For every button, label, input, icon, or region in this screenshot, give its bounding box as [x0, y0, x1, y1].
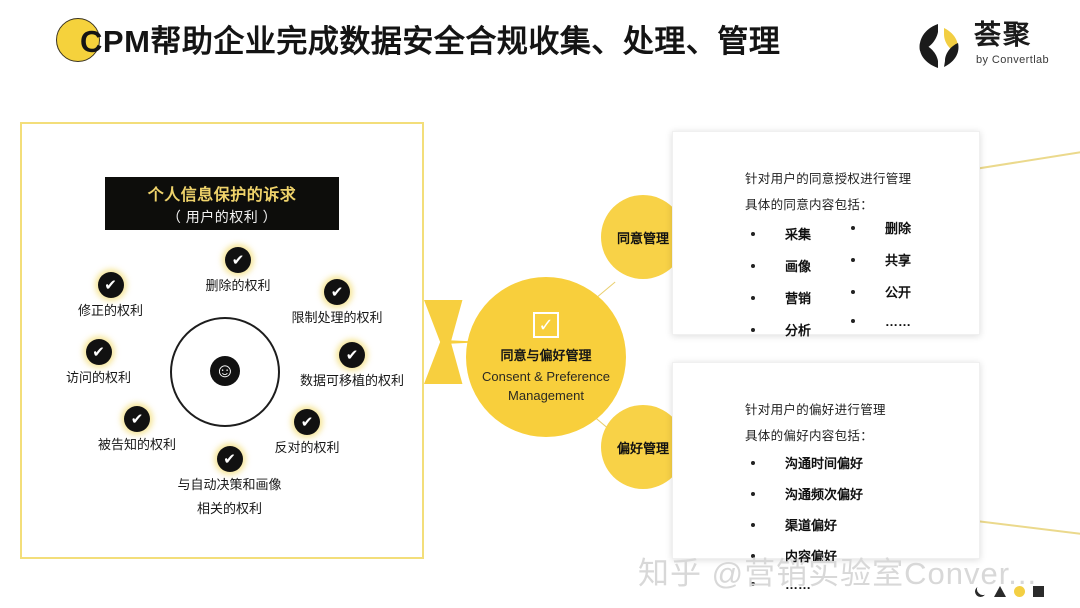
list-item-label: 采集	[785, 224, 811, 243]
logo-name-cn: 荟聚	[974, 20, 1032, 50]
card-line-2: 具体的偏好内容包括：	[745, 425, 873, 444]
preference-detail-card: 针对用户的偏好进行管理 具体的偏好内容包括： 沟通时间偏好 沟通频次偏好 渠道偏…	[672, 362, 980, 559]
bullet-dot-icon	[751, 328, 755, 332]
card-line-2: 具体的同意内容包括：	[745, 194, 873, 213]
list-item-label: 共享	[885, 250, 911, 269]
list-item: 渠道偏好	[751, 515, 863, 534]
list-item-label: 营销	[785, 288, 811, 307]
bullet-dot-icon	[751, 296, 755, 300]
check-circle-icon: ✔	[339, 342, 365, 368]
list-item: 画像	[751, 256, 811, 275]
bullet-dot-icon	[751, 523, 755, 527]
logo-leaf-icon	[914, 20, 966, 72]
bullet-dot-icon	[851, 290, 855, 294]
list-item: 删除	[851, 218, 911, 237]
list-item: 分析	[751, 320, 811, 339]
list-item: ……	[851, 314, 911, 329]
list-item: 共享	[851, 250, 911, 269]
list-item: 沟通频次偏好	[751, 484, 863, 503]
right-label: 与自动决策和画像	[157, 476, 302, 494]
slide-canvas: CPM帮助企业完成数据安全合规收集、处理、管理 荟聚 by Convertlab…	[0, 0, 1080, 608]
right-item-rectification: ✔ 修正的权利	[58, 272, 163, 320]
watermark-icon-group	[975, 586, 1044, 597]
crescent-icon	[975, 586, 986, 597]
list-item-label: 渠道偏好	[785, 515, 837, 534]
list-item: 营销	[751, 288, 811, 307]
check-icon: ✓	[533, 312, 559, 338]
right-label: 访问的权利	[46, 369, 151, 387]
center-title-cn: 同意与偏好管理	[500, 345, 591, 364]
check-circle-icon: ✔	[324, 279, 350, 305]
right-label: 修正的权利	[58, 302, 163, 320]
rights-header-subtitle: （ 用户的权利 ）	[167, 207, 277, 227]
rights-panel-header: 个人信息保护的诉求 （ 用户的权利 ）	[105, 177, 339, 230]
check-circle-icon: ✔	[124, 406, 150, 432]
bullet-dot-icon	[751, 264, 755, 268]
list-item-label: 分析	[785, 320, 811, 339]
center-title-en-line1: Consent & Preference	[482, 369, 610, 384]
rights-header-title: 个人信息保护的诉求	[148, 181, 297, 205]
right-label-line2: 相关的权利	[157, 500, 302, 518]
right-item-automated-decision: ✔ 与自动决策和画像 相关的权利	[157, 446, 302, 518]
bullet-dot-icon	[751, 232, 755, 236]
check-circle-icon: ✔	[98, 272, 124, 298]
user-rights-panel: 个人信息保护的诉求 （ 用户的权利 ） ☺ ✔ 删除的权利 ✔ 修正的权利 ✔ …	[20, 122, 424, 559]
list-item: 采集	[751, 224, 811, 243]
card-line-1: 针对用户的偏好进行管理	[745, 399, 886, 418]
right-label: 数据可移植的权利	[282, 372, 422, 390]
right-item-portability: ✔ 数据可移植的权利	[282, 342, 422, 390]
bullet-dot-icon	[751, 461, 755, 465]
bullet-dot-icon	[851, 319, 855, 323]
check-circle-icon: ✔	[294, 409, 320, 435]
bullet-dot-icon	[851, 258, 855, 262]
list-item-label: 沟通时间偏好	[785, 453, 863, 472]
bullet-dot-icon	[751, 492, 755, 496]
logo-name-en: by Convertlab	[976, 54, 1049, 66]
right-item-access: ✔ 访问的权利	[46, 339, 151, 387]
card-line-1: 针对用户的同意授权进行管理	[745, 168, 911, 187]
consent-bullet-column-b: 删除 共享 公开 ……	[851, 218, 911, 342]
center-title-en-line2: Management	[508, 388, 584, 403]
center-node-consent-preference: ✓ 同意与偏好管理 Consent & Preference Managemen…	[466, 277, 626, 437]
check-circle-icon: ✔	[225, 247, 251, 273]
list-item-label: ……	[885, 314, 911, 329]
check-circle-icon: ✔	[86, 339, 112, 365]
right-label: 限制处理的权利	[277, 309, 397, 327]
smiley-face-icon: ☺	[210, 356, 240, 386]
list-item: 公开	[851, 282, 911, 301]
list-item-label: 沟通频次偏好	[785, 484, 863, 503]
black-square-icon	[1033, 586, 1044, 597]
yellow-circle-icon	[1014, 586, 1025, 597]
list-item-label: 画像	[785, 256, 811, 275]
list-item-label: 删除	[885, 218, 911, 237]
list-item: 沟通时间偏好	[751, 453, 863, 472]
bullet-dot-icon	[851, 226, 855, 230]
list-item-label: 公开	[885, 282, 911, 301]
check-circle-icon: ✔	[217, 446, 243, 472]
brand-logo: 荟聚 by Convertlab	[912, 18, 1062, 80]
consent-detail-card: 针对用户的同意授权进行管理 具体的同意内容包括： 采集 画像 营销 分析	[672, 131, 980, 335]
right-item-restrict-processing: ✔ 限制处理的权利	[277, 279, 397, 327]
page-title: CPM帮助企业完成数据安全合规收集、处理、管理	[80, 16, 780, 61]
consent-bullet-column-a: 采集 画像 营销 分析	[751, 224, 811, 352]
triangle-icon	[994, 586, 1006, 597]
